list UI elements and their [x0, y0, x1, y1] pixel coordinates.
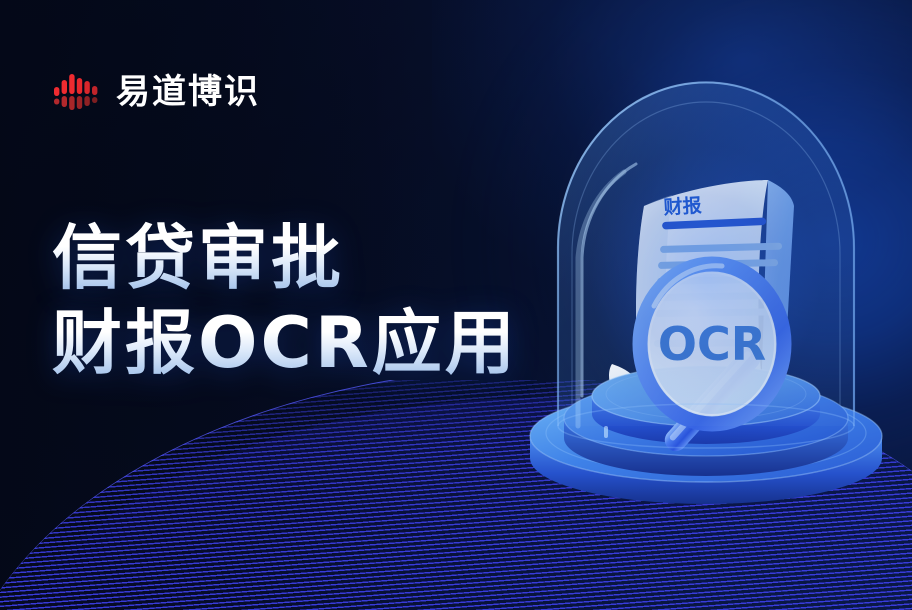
brand-logo[interactable]: 易道博识: [52, 66, 260, 118]
headline-block: 信贷审批 财报OCR应用: [52, 216, 552, 387]
magnifier-ocr-label: OCR: [658, 317, 766, 371]
document-title: 财报: [663, 194, 702, 219]
yidao-boshi-logo-mark-icon: [52, 66, 102, 118]
illustration-svg: 财报: [516, 96, 896, 506]
brand-logo-text: 易道博识: [116, 75, 260, 109]
headline-line-1: 信贷审批: [52, 216, 552, 301]
headline-line-2: 财报OCR应用: [52, 301, 552, 386]
illustration: 财报: [516, 96, 896, 506]
promo-banner: 易道博识 信贷审批 财报OCR应用: [0, 0, 912, 610]
